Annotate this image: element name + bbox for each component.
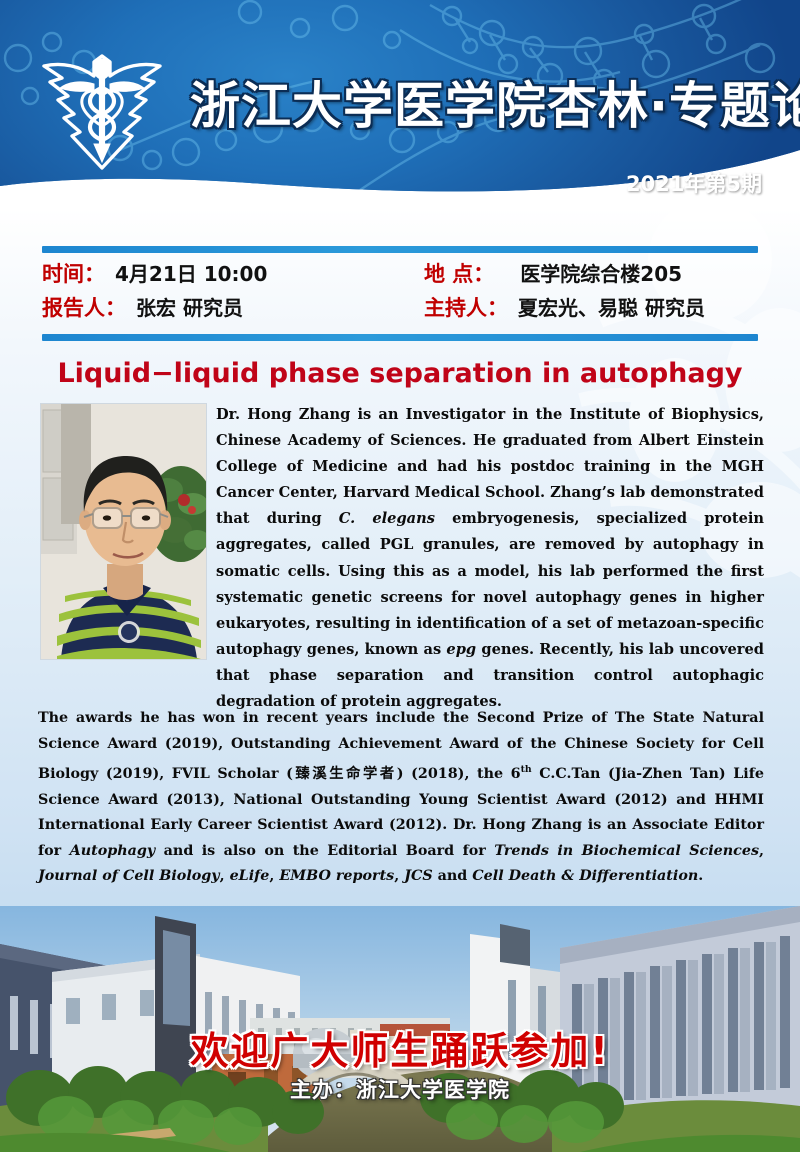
awards-sep-2: , (220, 868, 230, 884)
awards-sep-3: , (269, 868, 279, 884)
time-label: 时间： (42, 258, 105, 288)
speaker-label: 报告人： (42, 292, 126, 322)
info-rule-bottom (42, 334, 758, 341)
awards-text-and: and (433, 868, 473, 884)
bio-text-2: embryogenesis, specialized protein aggre… (216, 510, 764, 657)
host-label: 主持人： (424, 292, 508, 322)
caduceus-medical-logo (32, 36, 172, 176)
place-label: 地 点： (424, 258, 494, 288)
organizer-line: 主办：浙江大学医学院 (0, 1074, 800, 1104)
info-cell-speaker: 报告人： 张宏 研究员 (42, 292, 424, 322)
awards-sep-1: , (759, 843, 764, 859)
awards-superscript-th: th (521, 764, 532, 775)
journal-elife: eLife (230, 868, 270, 884)
awards-text-3: and is also on the Editorial Board for (155, 843, 494, 859)
journal-jcb: Journal of Cell Biology (38, 868, 220, 884)
bio-italic-c-elegans: C. elegans (339, 510, 435, 527)
journal-jcs: JCS (404, 868, 432, 884)
time-value: 4月21日 10:00 (115, 258, 267, 287)
journal-trends-biochem-sci: Trends in Biochemical Sciences (494, 843, 759, 859)
info-cell-time: 时间： 4月21日 10:00 (42, 258, 424, 288)
awards-paragraph: The awards he has won in recent years in… (38, 706, 764, 890)
info-row-time-place: 时间： 4月21日 10:00 地 点： 医学院综合楼205 (42, 256, 758, 290)
journal-cell-death-diff: Cell Death & Differentiation (472, 868, 698, 884)
place-value: 医学院综合楼205 (520, 258, 682, 287)
talk-title: Liquid−liquid phase separation in autoph… (0, 358, 800, 389)
header-title: 浙江大学医学院杏林·专题论坛 (190, 52, 790, 152)
event-info-block: 时间： 4月21日 10:00 地 点： 医学院综合楼205 报告人： 张宏 研… (42, 256, 758, 332)
welcome-message: 欢迎广大师生踊跃参加! (0, 1020, 800, 1075)
issue-number: 2021年第5期 (626, 168, 762, 198)
speaker-value: 张宏 研究员 (136, 292, 243, 321)
info-cell-host: 主持人： 夏宏光、易聪 研究员 (424, 292, 705, 322)
awards-sep-4: , (394, 868, 404, 884)
info-rule-top (42, 246, 758, 253)
journal-embo-reports: EMBO reports (279, 868, 394, 884)
journal-autophagy: Autophagy (70, 843, 156, 859)
bio-italic-epg: epg (446, 641, 476, 658)
awards-period: . (698, 868, 703, 884)
host-value: 夏宏光、易聪 研究员 (518, 292, 705, 321)
info-cell-place: 地 点： 医学院综合楼205 (424, 258, 682, 288)
speaker-biography: Dr. Hong Zhang is an Investigator in the… (216, 402, 764, 715)
info-row-speaker-host: 报告人： 张宏 研究员 主持人： 夏宏光、易聪 研究员 (42, 290, 758, 324)
speaker-photo (40, 403, 207, 660)
poster: 浙江大学医学院杏林·专题论坛 2021年第5期 时间： 4月21日 10:00 … (0, 0, 800, 1152)
header-title-text: 浙江大学医学院杏林·专题论坛 (190, 66, 800, 138)
